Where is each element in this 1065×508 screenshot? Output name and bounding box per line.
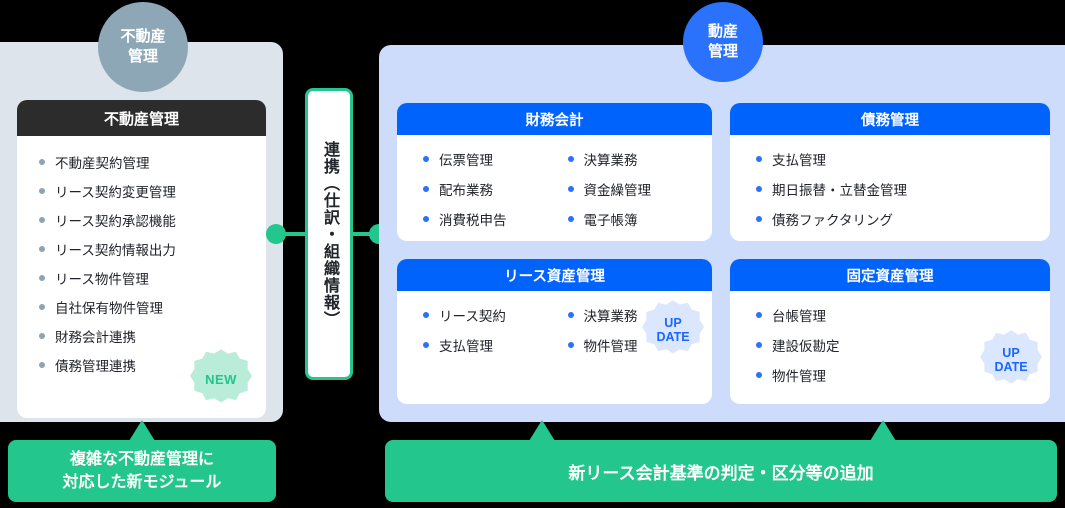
left-callout-line2: 対応した新モジュール [63,471,222,494]
list-item-label: 配布業務 [439,179,493,199]
update-badge-line1: UP [664,316,681,330]
list-item-label: 消費税申告 [439,209,507,229]
bullet-icon [39,217,45,223]
card-body: リース契約 支払管理 決算業務 物件管理 UPDATE [397,291,712,365]
update-badge-line2: DATE [656,330,689,344]
list-item-label: 支払管理 [439,335,493,355]
update-badge-line1: UP [1002,346,1019,360]
list-item-label: リース契約変更管理 [55,181,176,201]
bullet-icon [568,312,574,318]
list-item: リース契約情報出力 [39,239,266,259]
list-item-label: 決算業務 [584,149,638,169]
bullet-icon [568,186,574,192]
real-estate-card: 不動産管理 不動産契約管理 リース契約変更管理 リース契約承認機能 リース契約情… [17,100,266,418]
update-badge: UPDATE [980,329,1042,391]
right-callout-label: 新リース会計基準の判定・区分等の追加 [568,459,873,484]
real-estate-card-title: 不動産管理 [17,100,266,136]
bullet-icon [568,156,574,162]
list-item-label: 不動産契約管理 [55,152,150,172]
list-item-label: 電子帳簿 [584,209,638,229]
list-item-label: 自社保有物件管理 [55,297,163,317]
list-item: 支払管理 [756,149,1050,169]
list-item-label: 伝票管理 [439,149,493,169]
list-item-label: リース契約情報出力 [55,239,176,259]
movables-section-badge: 動産 管理 [683,2,763,82]
list-item-label: 支払管理 [772,149,826,169]
card-fixed-asset-management: 固定資産管理 台帳管理 建設仮勘定 物件管理 UPDATE [730,259,1050,404]
bullet-icon [39,246,45,252]
list-item-label: 債務ファクタリング [772,209,893,229]
card-column-1: 支払管理 期日振替・立替金管理 債務ファクタリング [756,149,1050,239]
bullet-icon [568,342,574,348]
list-item: 配布業務 [423,179,568,199]
card-body: 支払管理 期日振替・立替金管理 債務ファクタリング [730,135,1050,239]
bullet-icon [756,156,762,162]
list-item-label: 財務会計連携 [55,326,136,346]
list-item-label: 物件管理 [772,365,826,385]
right-callout-banner: 新リース会計基準の判定・区分等の追加 [385,440,1057,502]
card-title: 財務会計 [397,103,712,135]
arrow-up-icon [870,420,896,441]
card-title: リース資産管理 [397,259,712,291]
list-item-label: リース契約 [439,305,506,325]
bullet-icon [423,156,429,162]
list-item: 自社保有物件管理 [39,297,266,317]
bullet-icon [39,275,45,281]
bullet-icon [423,186,429,192]
update-badge: UPDATE [642,299,704,361]
movables-badge-line2: 管理 [708,42,738,62]
list-item: 消費税申告 [423,209,568,229]
list-item: 資金繰管理 [568,179,713,199]
list-item-label: 債務管理連携 [55,355,136,375]
bullet-icon [756,216,762,222]
list-item-label: リース物件管理 [55,268,149,288]
list-item: 電子帳簿 [568,209,713,229]
update-badge-line2: DATE [994,360,1027,374]
new-badge: NEW [190,348,252,410]
list-item: リース契約 [423,305,568,325]
arrow-up-icon [129,420,155,441]
real-estate-badge-line1: 不動産 [120,27,165,47]
list-item: 決算業務 [568,149,713,169]
list-item: 財務会計連携 [39,326,266,346]
card-column-1: リース契約 支払管理 [423,305,568,365]
card-column-1: 伝票管理 配布業務 消費税申告 [423,149,568,239]
left-callout-line1: 複雑な不動産管理に [70,448,214,471]
bullet-icon [423,342,429,348]
list-item: 不動産契約管理 [39,152,266,172]
list-item: リース物件管理 [39,268,266,288]
left-callout-banner: 複雑な不動産管理に 対応した新モジュール [8,440,276,502]
list-item-label: 台帳管理 [772,305,826,325]
bullet-icon [756,342,762,348]
card-body: 伝票管理 配布業務 消費税申告 決算業務 資金繰管理 電子帳簿 [397,135,712,239]
bullet-icon [39,188,45,194]
connector-dot-left [266,224,286,244]
list-item-label: 資金繰管理 [584,179,652,199]
card-title: 固定資産管理 [730,259,1050,291]
card-debt-management: 債務管理 支払管理 期日振替・立替金管理 債務ファクタリング [730,103,1050,241]
card-lease-asset-management: リース資産管理 リース契約 支払管理 決算業務 物件管理 UPDATE [397,259,712,404]
bullet-icon [423,312,429,318]
real-estate-badge-line2: 管理 [128,47,158,67]
movables-badge-line1: 動産 [708,22,738,42]
list-item-label: 決算業務 [584,305,638,325]
list-item-label: 物件管理 [584,335,638,355]
real-estate-card-body: 不動産契約管理 リース契約変更管理 リース契約承認機能 リース契約情報出力 リー… [17,136,266,418]
list-item: リース契約変更管理 [39,181,266,201]
card-column-2: 決算業務 資金繰管理 電子帳簿 [568,149,713,239]
bullet-icon [568,216,574,222]
integration-connector-label: 連携（仕訳・組織情報） [321,141,337,328]
bullet-icon [39,304,45,310]
bullet-icon [39,362,45,368]
bullet-icon [39,333,45,339]
list-item: 期日振替・立替金管理 [756,179,1050,199]
list-item-label: リース契約承認機能 [55,210,176,230]
list-item: 伝票管理 [423,149,568,169]
card-financial-accounting: 財務会計 伝票管理 配布業務 消費税申告 決算業務 資金繰管理 電子帳簿 [397,103,712,241]
bullet-icon [39,159,45,165]
list-item: 台帳管理 [756,305,1050,325]
bullet-icon [756,186,762,192]
list-item: 支払管理 [423,335,568,355]
update-badge-label: UPDATE [994,346,1027,375]
list-item: リース契約承認機能 [39,210,266,230]
new-badge-label: NEW [205,372,237,387]
list-item-label: 期日振替・立替金管理 [772,179,907,199]
card-title: 債務管理 [730,103,1050,135]
arrow-up-icon [529,420,555,441]
bullet-icon [423,216,429,222]
update-badge-label: UPDATE [656,316,689,345]
list-item: 債務ファクタリング [756,209,1050,229]
integration-connector: 連携（仕訳・組織情報） [305,88,353,380]
bullet-icon [756,372,762,378]
diagram-canvas: 不動産 管理 不動産管理 不動産契約管理 リース契約変更管理 リース契約承認機能… [0,0,1065,508]
bullet-icon [756,312,762,318]
real-estate-section-badge: 不動産 管理 [98,2,188,92]
list-item-label: 建設仮勘定 [772,335,840,355]
card-body: 台帳管理 建設仮勘定 物件管理 UPDATE [730,291,1050,395]
